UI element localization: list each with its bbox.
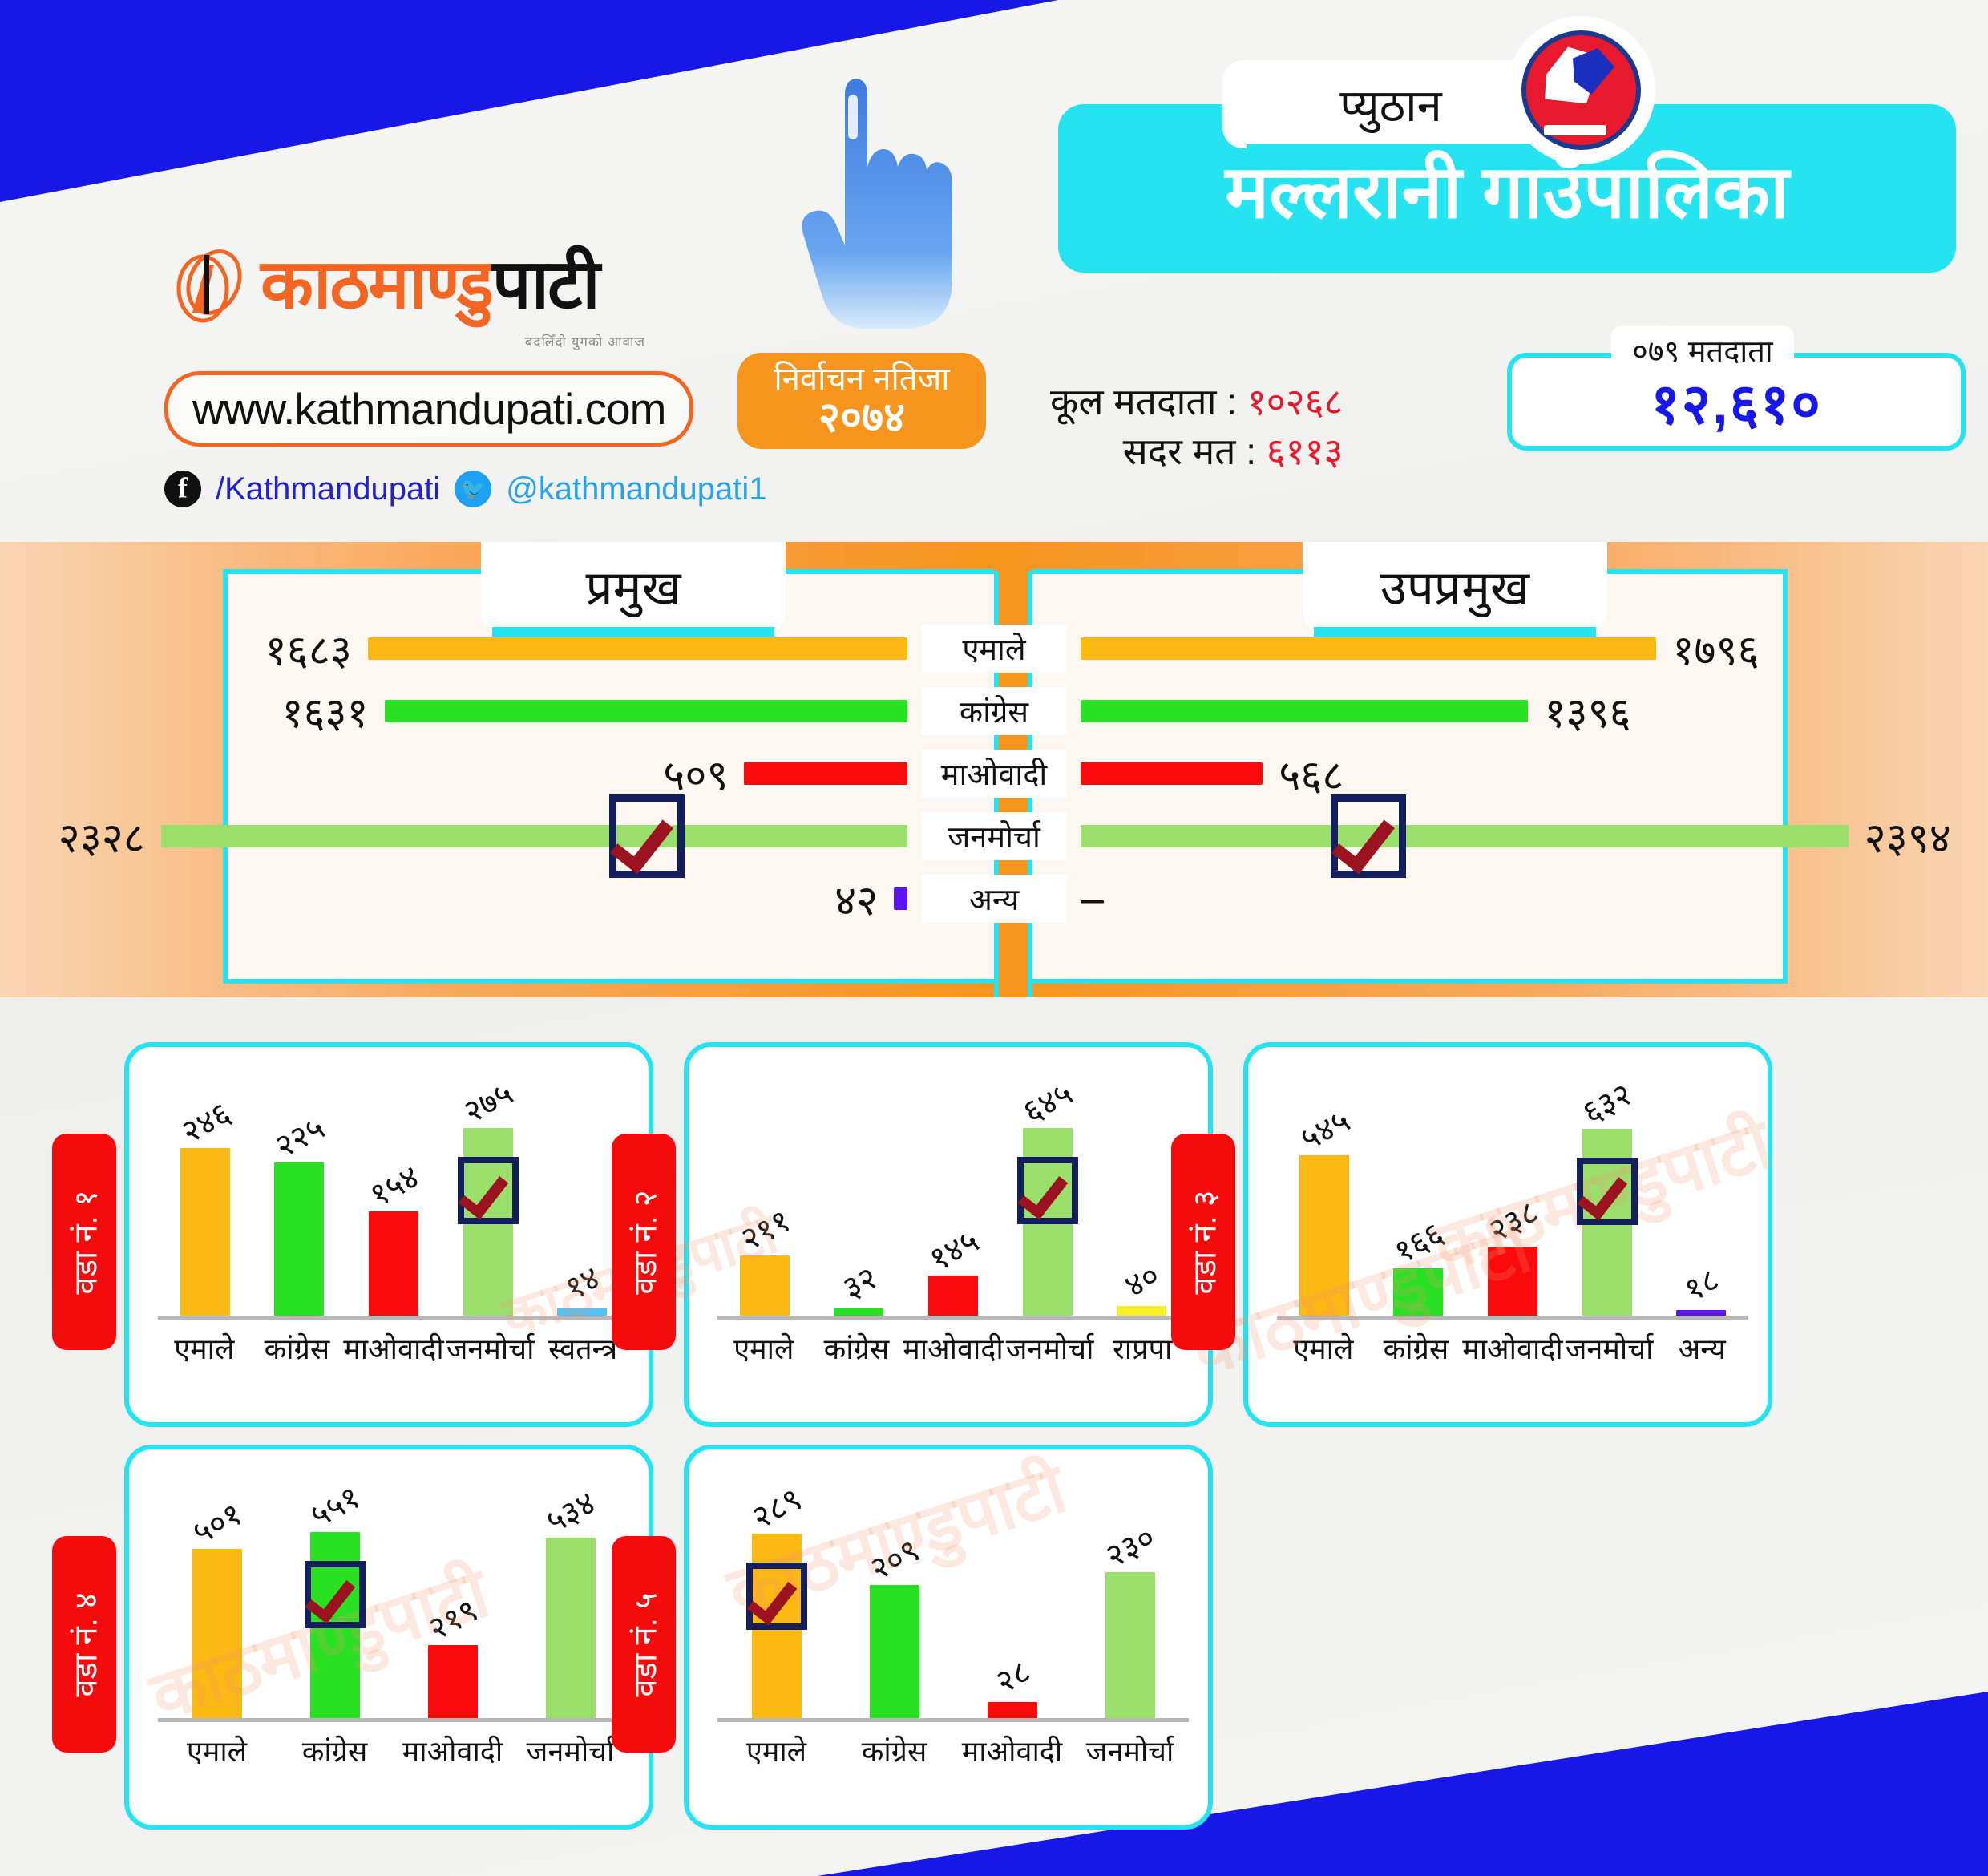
ward-bar-value: २३८ bbox=[1481, 1189, 1546, 1251]
main-chart-rows: १६८३एमाले१७९६१६३१कांग्रेस१३९६५०९माओवादी५… bbox=[0, 617, 1988, 930]
ward-bar-column: ६४५ bbox=[1000, 1074, 1095, 1318]
ward-number-badge: वडा नं. ५ bbox=[612, 1536, 676, 1753]
ward-number-badge: वडा नं. १ bbox=[52, 1134, 116, 1350]
ward-axis-label: कांग्रेस bbox=[1370, 1328, 1463, 1368]
ward-bar-column: ३२ bbox=[812, 1074, 907, 1318]
ward-axis-label: एमाले bbox=[717, 1328, 810, 1368]
center-divider-cap bbox=[994, 542, 1032, 571]
party-label: अन्य bbox=[921, 875, 1067, 923]
ward-axis-label: कांग्रेस bbox=[810, 1328, 903, 1368]
winner-check-icon bbox=[746, 1563, 807, 1630]
deputy-vote-value: १३९६ bbox=[1544, 683, 1630, 740]
ward-number-badge: वडा नं. ३ bbox=[1171, 1134, 1235, 1350]
party-label: जनमोर्चा bbox=[921, 812, 1067, 860]
ward-bar bbox=[369, 1211, 418, 1318]
ward-axis-label: एमाले bbox=[158, 1328, 251, 1368]
ward-bar bbox=[1299, 1155, 1349, 1318]
ward-axis-label: कांग्रेस bbox=[251, 1328, 344, 1368]
ward-axis-label: एमाले bbox=[158, 1731, 276, 1770]
ward-bar bbox=[928, 1276, 978, 1318]
ward-bar-value: २८९ bbox=[744, 1476, 809, 1538]
ward-axis bbox=[717, 1316, 1189, 1320]
vote-stats: कूल मतदाता : १०२६८ सदर मत : ६११३ bbox=[1050, 377, 1343, 476]
total-voters-value: १०२६८ bbox=[1247, 381, 1344, 423]
mayor-vote-value: २३२८ bbox=[59, 808, 145, 865]
valid-votes-row: सदर मत : ६११३ bbox=[1050, 427, 1343, 476]
ward-bars: ५४५१६६२३८६३२१८ bbox=[1277, 1074, 1748, 1318]
ward-bar-column: १४५ bbox=[906, 1074, 1000, 1318]
mayor-vote-value: ५०९ bbox=[663, 746, 728, 803]
ward-number-label: वडा नं. २ bbox=[622, 1190, 666, 1294]
ward-axis-label: जनमोर्चा bbox=[1563, 1328, 1656, 1368]
deputy-bar bbox=[1081, 637, 1656, 660]
ward-axis-label: जनमोर्चा bbox=[1004, 1328, 1097, 1368]
website-pill[interactable]: www.kathmandupati.com bbox=[164, 371, 693, 447]
ward-bar bbox=[546, 1538, 596, 1720]
ward-bar bbox=[870, 1585, 919, 1720]
voters-count: १२,६१० bbox=[1651, 363, 1821, 440]
ward-bar-value: ३२ bbox=[834, 1255, 884, 1309]
brand-block: काठमाण्डुपाटी बदलिँदो युगको आवाज www.kat… bbox=[164, 241, 645, 507]
deputy-bar-cell: १३९६ bbox=[1066, 683, 1988, 740]
ward-axis-labels: एमालेकांग्रेसमाओवादीजनमोर्चा bbox=[717, 1731, 1189, 1770]
ward-plot: २४६२२५१५४२७५१४एमालेकांग्रेसमाओवादीजनमोर्… bbox=[158, 1074, 629, 1395]
voter-finger-ink-icon bbox=[778, 64, 954, 353]
facebook-handle[interactable]: /Kathmandupati bbox=[216, 471, 440, 507]
tab-mayor-label: प्रमुख bbox=[585, 553, 681, 619]
ward-card: वडा नं. २२११३२१४५६४५४०एमालेकांग्रेसमाओवा… bbox=[684, 1042, 1213, 1427]
ward-bar-column: २२५ bbox=[253, 1074, 347, 1318]
voters-tag-label: ०७९ मतदाता bbox=[1611, 326, 1794, 374]
ward-bar bbox=[1393, 1268, 1443, 1318]
facebook-icon[interactable] bbox=[164, 471, 201, 507]
ward-number-label: वडा नं. १ bbox=[63, 1190, 107, 1294]
ward-axis-label: जनमोर्चा bbox=[1071, 1731, 1189, 1770]
ward-number-badge: वडा नं. २ bbox=[612, 1134, 676, 1350]
district-name-pill: प्युठान bbox=[1222, 60, 1559, 148]
website-url: www.kathmandupati.com bbox=[192, 384, 665, 434]
ward-axis-label: माओवादी bbox=[394, 1731, 511, 1770]
district-name: प्युठान bbox=[1339, 74, 1441, 135]
valid-votes-value: ६११३ bbox=[1267, 431, 1344, 472]
deputy-bar bbox=[1081, 825, 1849, 847]
ward-bar-value: ६३२ bbox=[1574, 1071, 1639, 1134]
ward-bar-value: ६४५ bbox=[1015, 1069, 1080, 1132]
ward-bar bbox=[1105, 1572, 1155, 1720]
twitter-icon[interactable] bbox=[455, 471, 491, 507]
ward-number-badge: वडा नं. ४ bbox=[52, 1536, 116, 1753]
mayor-bar bbox=[894, 887, 907, 910]
ward-cards: वडा नं. १२४६२२५१५४२७५१४एमालेकांग्रेसमाओव… bbox=[0, 1042, 1988, 1847]
party-label: माओवादी bbox=[921, 750, 1067, 798]
total-voters-label: कूल मतदाता : bbox=[1050, 381, 1237, 423]
tab-deputy-mayor[interactable]: उपप्रमुख bbox=[1303, 542, 1607, 630]
ward-axis-label: एमाले bbox=[1277, 1328, 1370, 1368]
ward-bar-column: २१९ bbox=[394, 1477, 511, 1720]
winner-check-icon bbox=[1331, 794, 1406, 878]
ward-axis-label: माओवादी bbox=[343, 1328, 443, 1368]
ward-plot: ५०१५५१२१९५३४एमालेकांग्रेसमाओवादीजनमोर्चा bbox=[158, 1477, 629, 1797]
mayor-bar bbox=[161, 825, 907, 847]
ward-axis bbox=[158, 1316, 629, 1320]
ward-bar-value: ४० bbox=[1117, 1252, 1167, 1307]
ward-bar-value: १५४ bbox=[362, 1154, 426, 1216]
ward-bar-value: २८ bbox=[987, 1648, 1037, 1703]
ward-bar-value: ५०१ bbox=[184, 1490, 249, 1553]
ward-bar bbox=[740, 1255, 790, 1318]
deputy-bar-cell: २३९४ bbox=[1066, 808, 1988, 865]
ward-bars: २११३२१४५६४५४० bbox=[717, 1074, 1189, 1318]
main-chart-row: १६८३एमाले१७९६ bbox=[0, 617, 1988, 680]
ward-bar-value: १६६ bbox=[1386, 1211, 1451, 1273]
ward-bar bbox=[1488, 1247, 1537, 1318]
ward-bar-column: २३० bbox=[1071, 1477, 1189, 1720]
social-links: /Kathmandupati @kathmandupati1 bbox=[164, 471, 645, 507]
ward-axis-label: एमाले bbox=[717, 1731, 835, 1770]
ward-axis bbox=[717, 1718, 1189, 1722]
ward-card: वडा नं. १२४६२२५१५४२७५१४एमालेकांग्रेसमाओव… bbox=[124, 1042, 653, 1427]
main-chart-row: १६३१कांग्रेस१३९६ bbox=[0, 680, 1988, 742]
ward-plot: ५४५१६६२३८६३२१८एमालेकांग्रेसमाओवादीजनमोर्… bbox=[1277, 1074, 1748, 1395]
deputy-vote-value: २३९४ bbox=[1865, 808, 1951, 865]
ward-bar-value: २०९ bbox=[862, 1527, 927, 1590]
ward-bar-column: ५०१ bbox=[158, 1477, 276, 1720]
ward-bars: २४६२२५१५४२७५१४ bbox=[158, 1074, 629, 1318]
ward-axis-label: माओवादी bbox=[953, 1731, 1071, 1770]
deputy-vote-value: – bbox=[1081, 875, 1104, 923]
ward-bar-value: २४६ bbox=[172, 1090, 237, 1153]
party-label: कांग्रेस bbox=[921, 687, 1067, 735]
party-label-cell: अन्य bbox=[922, 875, 1066, 923]
deputy-vote-value: १७९६ bbox=[1672, 621, 1759, 677]
ward-axis-labels: एमालेकांग्रेसमाओवादीजनमोर्चाअन्य bbox=[1277, 1328, 1748, 1368]
ward-number-label: वडा नं. ४ bbox=[63, 1592, 107, 1696]
ward-plot: २११३२१४५६४५४०एमालेकांग्रेसमाओवादीजनमोर्च… bbox=[717, 1074, 1189, 1395]
deputy-bar-cell: – bbox=[1066, 875, 1988, 923]
winner-check-icon bbox=[609, 794, 685, 878]
page-title: मल्लरानी गाउँपालिका bbox=[1225, 139, 1789, 239]
ward-bar-column: २४६ bbox=[158, 1074, 253, 1318]
ward-bar-value: १४५ bbox=[921, 1217, 986, 1280]
brand-name-secondary: पाटी bbox=[492, 246, 599, 323]
mayor-bar bbox=[368, 637, 907, 660]
ward-axis-label: कांग्रेस bbox=[276, 1731, 394, 1770]
ward-card: वडा नं. ३५४५१६६२३८६३२१८एमालेकांग्रेसमाओव… bbox=[1243, 1042, 1772, 1427]
winner-check-icon bbox=[458, 1157, 519, 1224]
ward-bar-column: ६३२ bbox=[1560, 1074, 1655, 1318]
mayor-vote-value: ४२ bbox=[834, 871, 878, 928]
infographic-page: काठमाण्डुपाटी बदलिँदो युगको आवाज www.kat… bbox=[0, 0, 1988, 1876]
ward-axis-labels: एमालेकांग्रेसमाओवादीजनमोर्चा bbox=[158, 1731, 629, 1770]
mayor-bar-cell: ४२ bbox=[0, 871, 922, 928]
mayor-bar bbox=[385, 700, 907, 722]
ward-axis-label: जनमोर्चा bbox=[444, 1328, 537, 1368]
election-commission-seal-icon bbox=[1515, 24, 1647, 156]
ward-number-label: वडा नं. ५ bbox=[622, 1592, 666, 1696]
ward-bar bbox=[428, 1645, 478, 1720]
mayor-bar-cell: ५०९ bbox=[0, 746, 922, 803]
ward-bar bbox=[192, 1549, 242, 1720]
brand-name-primary: काठमाण्डु bbox=[261, 246, 492, 323]
ward-number-label: वडा नं. ३ bbox=[1182, 1190, 1226, 1294]
ward-bar-column: ५४५ bbox=[1277, 1074, 1372, 1318]
winner-check-icon bbox=[1017, 1157, 1078, 1224]
main-chart-row: २३२८जनमोर्चा२३९४ bbox=[0, 805, 1988, 867]
ward-bar-value: ५५१ bbox=[302, 1474, 367, 1536]
ward-row: वडा नं. १२४६२२५१५४२७५१४एमालेकांग्रेसमाओव… bbox=[0, 1042, 1988, 1427]
main-chart-row: ५०९माओवादी५६८ bbox=[0, 742, 1988, 805]
ward-plot: २८९२०९२८२३०एमालेकांग्रेसमाओवादीजनमोर्चा bbox=[717, 1477, 1189, 1797]
ward-bar-column: २११ bbox=[717, 1074, 812, 1318]
deputy-bar-cell: ५६८ bbox=[1066, 746, 1988, 803]
mayor-vote-value: १६३१ bbox=[281, 683, 368, 740]
ward-bar-value: २३० bbox=[1097, 1514, 1162, 1576]
ward-axis-label: माओवादी bbox=[903, 1328, 1003, 1368]
ward-bar-column: १८ bbox=[1654, 1074, 1748, 1318]
ward-bar-value: ५३४ bbox=[538, 1479, 603, 1542]
winner-check-icon bbox=[1577, 1158, 1638, 1225]
ward-axis-label: अन्य bbox=[1655, 1328, 1748, 1368]
twitter-handle[interactable]: @kathmandupati1 bbox=[506, 471, 766, 507]
mayor-bar bbox=[744, 762, 907, 785]
ward-bar-value: २७५ bbox=[455, 1070, 520, 1133]
ward-card: वडा नं. ५२८९२०९२८२३०एमालेकांग्रेसमाओवादी… bbox=[684, 1445, 1213, 1830]
ward-bar-column: २०९ bbox=[835, 1477, 953, 1720]
party-label-cell: जनमोर्चा bbox=[922, 812, 1066, 860]
ward-card: वडा नं. ४५०१५५१२१९५३४एमालेकांग्रेसमाओवाद… bbox=[124, 1445, 653, 1830]
ward-axis-label: कांग्रेस bbox=[835, 1731, 953, 1770]
party-label: एमाले bbox=[921, 625, 1067, 673]
ward-bar-column: १६६ bbox=[1372, 1074, 1466, 1318]
election-badge-line1: निर्वाचन नतिजा bbox=[774, 362, 949, 396]
ward-bar bbox=[274, 1162, 324, 1318]
main-chart-row: ४२अन्य– bbox=[0, 867, 1988, 930]
ward-bar-value: २१९ bbox=[420, 1587, 485, 1650]
ward-bar-column: २३८ bbox=[1465, 1074, 1560, 1318]
brand-tagline: बदलिँदो युगको आवाज bbox=[164, 332, 645, 350]
ward-axis-labels: एमालेकांग्रेसमाओवादीजनमोर्चास्वतन्त्र bbox=[158, 1328, 629, 1368]
ward-bar-value: १८ bbox=[1676, 1255, 1727, 1310]
ward-bar-column: २८ bbox=[953, 1477, 1071, 1720]
ward-bars: २८९२०९२८२३० bbox=[717, 1477, 1189, 1720]
mayor-bar-cell: १६८३ bbox=[0, 621, 922, 677]
deputy-vote-value: ५६८ bbox=[1279, 746, 1344, 803]
ward-axis-labels: एमालेकांग्रेसमाओवादीजनमोर्चाराप्रपा bbox=[717, 1328, 1189, 1368]
party-label-cell: कांग्रेस bbox=[922, 687, 1066, 735]
party-label-cell: माओवादी bbox=[922, 750, 1066, 798]
ward-bar-value: ५४५ bbox=[1291, 1097, 1356, 1159]
ward-bar-column: २८९ bbox=[717, 1477, 835, 1720]
ward-bar-column: १५४ bbox=[346, 1074, 441, 1318]
ward-axis bbox=[158, 1718, 629, 1722]
mayor-vote-value: १६८३ bbox=[265, 621, 352, 677]
ward-bar-value: १४ bbox=[557, 1254, 608, 1308]
ward-bar-column: ५५१ bbox=[276, 1477, 394, 1720]
election-badge-line2: २०७४ bbox=[818, 396, 905, 440]
tab-deputy-mayor-label: उपप्रमुख bbox=[1380, 553, 1529, 619]
winner-check-icon bbox=[305, 1561, 366, 1628]
deputy-bar bbox=[1081, 762, 1263, 785]
mayor-bar-cell: २३२८ bbox=[0, 808, 922, 865]
kathmandupati-logo-icon bbox=[164, 241, 253, 329]
election-result-badge: निर्वाचन नतिजा २०७४ bbox=[737, 353, 986, 449]
ward-bar bbox=[180, 1148, 230, 1318]
ward-bar-column: २७५ bbox=[441, 1074, 535, 1318]
valid-votes-label: सदर मत : bbox=[1123, 431, 1256, 472]
ward-bar-value: २११ bbox=[732, 1198, 797, 1260]
total-voters-row: कूल मतदाता : १०२६८ bbox=[1050, 377, 1343, 427]
ward-bars: ५०१५५१२१९५३४ bbox=[158, 1477, 629, 1720]
mayor-bar-cell: १६३१ bbox=[0, 683, 922, 740]
deputy-bar bbox=[1081, 700, 1528, 722]
ward-axis bbox=[1277, 1316, 1748, 1320]
party-label-cell: एमाले bbox=[922, 625, 1066, 673]
ward-axis-label: माओवादी bbox=[1462, 1328, 1562, 1368]
ward-bar-value: २२५ bbox=[267, 1105, 332, 1167]
tab-mayor[interactable]: प्रमुख bbox=[481, 542, 786, 630]
